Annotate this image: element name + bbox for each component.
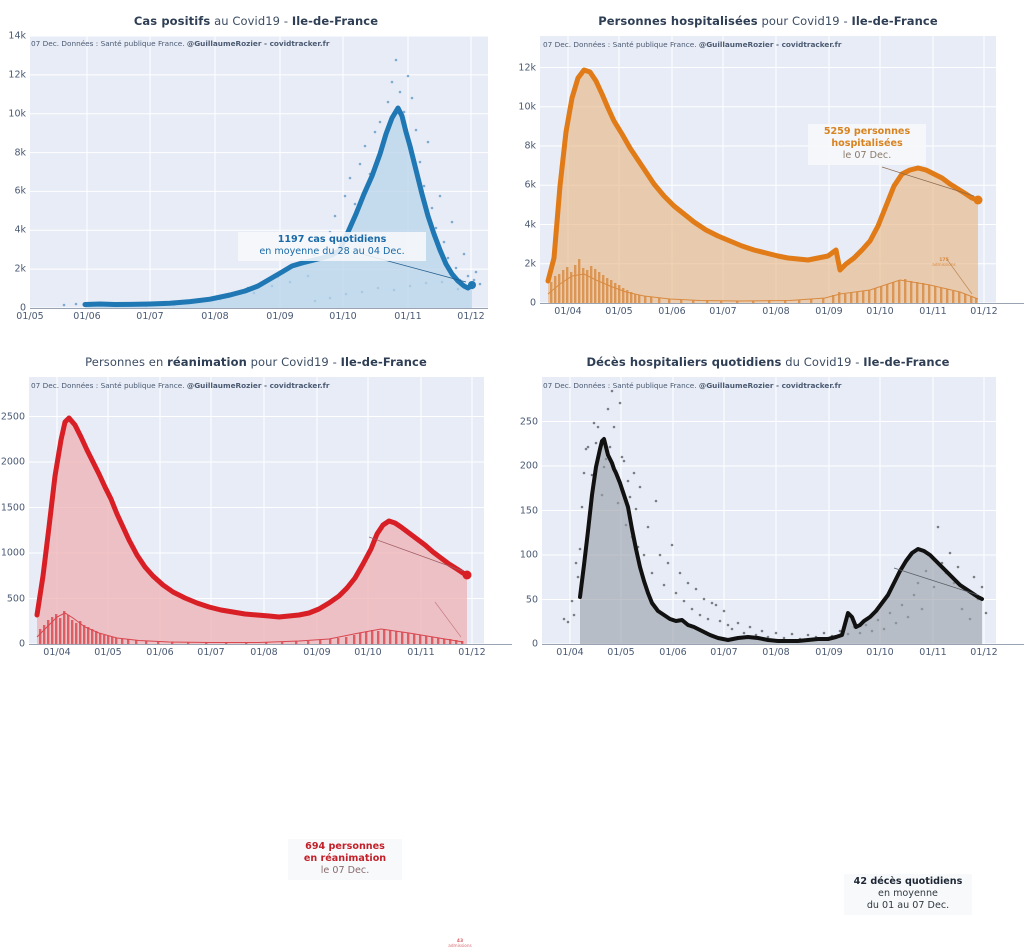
mini-label-admissions-icu: 43 admissions xyxy=(440,939,480,949)
xtick-deaths-2: 01/06 xyxy=(659,647,686,658)
x-axis-line-hospital xyxy=(540,303,1024,304)
annotation-deaths-line1: 42 décès quotidiens xyxy=(849,876,967,888)
xtick-deaths-7: 01/11 xyxy=(919,647,946,658)
x-axis-line-cases xyxy=(30,308,488,309)
chart-title-cases-bold: Cas positifs xyxy=(134,14,210,28)
xtick-icu-6: 01/10 xyxy=(354,647,381,658)
xtick-hospital-0: 01/04 xyxy=(554,306,581,317)
last-point-cases xyxy=(468,281,476,289)
panel-cas-positifs: Cas positifs au Covid19 - Ile-de-France … xyxy=(0,0,512,341)
x-axis-line-deaths xyxy=(542,644,1024,645)
annotation-icu: 694 personnes en réanimation le 07 Dec. xyxy=(288,839,402,880)
source-handle-text: @GuillaumeRozier - covidtracker.fr xyxy=(699,381,842,390)
ytick-deaths-2: 100 xyxy=(512,550,538,561)
dashboard-grid: Cas positifs au Covid19 - Ile-de-France … xyxy=(0,0,1024,683)
panel-deces: Décès hospitaliers quotidiens du Covid19… xyxy=(512,341,1024,683)
annotation-deaths-line3: du 01 au 07 Dec. xyxy=(849,900,967,912)
xtick-icu-0: 01/04 xyxy=(43,647,70,658)
chart-title-hospital-bold: Personnes hospitalisées xyxy=(598,14,758,28)
xtick-hospital-2: 01/06 xyxy=(658,306,685,317)
xtick-icu-8: 01/12 xyxy=(458,647,485,658)
xtick-deaths-0: 01/04 xyxy=(556,647,583,658)
source-note-text: 07 Dec. Données : Santé publique France. xyxy=(543,40,699,49)
xtick-icu-1: 01/05 xyxy=(94,647,121,658)
xtick-deaths-5: 01/09 xyxy=(815,647,842,658)
annotation-hospital: 5259 personnes hospitalisées le 07 Dec. xyxy=(808,124,926,165)
ytick-cases-3: 6k xyxy=(0,186,26,197)
area-hospital xyxy=(548,70,978,303)
xtick-cases-0: 01/05 xyxy=(16,311,43,322)
ytick-cases-2: 4k xyxy=(0,225,26,236)
xtick-deaths-6: 01/10 xyxy=(866,647,893,658)
last-point-icu xyxy=(463,571,472,580)
ytick-hospital-2: 4k xyxy=(512,219,536,230)
chart-title-icu-region: Ile-de-France xyxy=(341,355,427,369)
annotation-hospital-line1: 5259 personnes xyxy=(813,126,921,138)
ytick-deaths-0: 0 xyxy=(512,639,538,650)
xtick-icu-2: 01/06 xyxy=(146,647,173,658)
ytick-hospital-6: 12k xyxy=(512,62,536,73)
xtick-icu-4: 01/08 xyxy=(250,647,277,658)
ytick-hospital-3: 6k xyxy=(512,180,536,191)
annotation-icu-line1: 694 personnes xyxy=(293,841,397,853)
ytick-hospital-4: 8k xyxy=(512,141,536,152)
ytick-cases-6: 12k xyxy=(0,69,26,80)
xtick-cases-3: 01/08 xyxy=(201,311,228,322)
xtick-cases-2: 01/07 xyxy=(136,311,163,322)
chart-title-icu-prefix: Personnes en xyxy=(85,355,167,369)
chart-title-icu-bold: réanimation xyxy=(167,355,247,369)
ytick-icu-5: 2500 xyxy=(0,411,25,422)
xtick-deaths-4: 01/08 xyxy=(762,647,789,658)
source-handle-text: @GuillaumeRozier - covidtracker.fr xyxy=(187,39,330,48)
chart-title-icu: Personnes en réanimation pour Covid19 - … xyxy=(0,355,512,369)
xtick-deaths-8: 01/12 xyxy=(970,647,997,658)
ytick-icu-4: 2000 xyxy=(0,457,25,468)
ytick-icu-1: 500 xyxy=(0,593,25,604)
area-cases xyxy=(85,108,472,308)
annotation-cases-line1: 1197 cas quotidiens xyxy=(243,234,421,246)
source-note-hospital: 07 Dec. Données : Santé publique France.… xyxy=(543,40,841,49)
xtick-icu-5: 01/09 xyxy=(303,647,330,658)
ytick-cases-5: 10k xyxy=(0,108,26,119)
source-note-cases: 07 Dec. Données : Santé publique France.… xyxy=(31,39,329,48)
chart-svg-icu xyxy=(29,377,484,644)
ytick-hospital-0: 0 xyxy=(512,298,536,309)
xtick-hospital-7: 01/11 xyxy=(919,306,946,317)
xtick-hospital-4: 01/08 xyxy=(762,306,789,317)
plot-area-deaths xyxy=(542,377,996,644)
xtick-cases-4: 01/09 xyxy=(266,311,293,322)
chart-title-icu-mid: pour Covid19 - xyxy=(247,355,341,369)
ytick-hospital-1: 2k xyxy=(512,258,536,269)
chart-title-cases-region: Ile-de-France xyxy=(292,14,378,28)
source-note-text: 07 Dec. Données : Santé publique France. xyxy=(31,381,187,390)
xtick-icu-3: 01/07 xyxy=(197,647,224,658)
source-handle-text: @GuillaumeRozier - covidtracker.fr xyxy=(187,381,330,390)
plot-area-cases xyxy=(30,36,488,308)
source-handle-text: @GuillaumeRozier - covidtracker.fr xyxy=(699,40,842,49)
annotation-icu-line2: en réanimation xyxy=(293,853,397,865)
mini-label-text-icu: admissions xyxy=(440,944,480,949)
xtick-cases-6: 01/11 xyxy=(394,311,421,322)
xtick-deaths-3: 01/07 xyxy=(710,647,737,658)
annotation-cases-line2: en moyenne du 28 au 04 Dec. xyxy=(243,246,421,258)
ytick-cases-7: 14k xyxy=(0,31,26,42)
annotation-hospital-line3: le 07 Dec. xyxy=(813,150,921,162)
last-point-hospital xyxy=(974,196,983,205)
annotation-cases: 1197 cas quotidiens en moyenne du 28 au … xyxy=(238,232,426,261)
ytick-icu-3: 1500 xyxy=(0,502,25,513)
ytick-cases-1: 2k xyxy=(0,264,26,275)
xtick-cases-5: 01/10 xyxy=(329,311,356,322)
xtick-hospital-5: 01/09 xyxy=(815,306,842,317)
ytick-deaths-1: 50 xyxy=(512,594,538,605)
plot-area-icu xyxy=(29,377,484,644)
chart-title-deaths-region: Ile-de-France xyxy=(863,355,949,369)
ytick-cases-4: 8k xyxy=(0,147,26,158)
chart-title-hospital: Personnes hospitalisées pour Covid19 - I… xyxy=(512,14,1024,28)
source-note-text: 07 Dec. Données : Santé publique France. xyxy=(543,381,699,390)
xtick-hospital-8: 01/12 xyxy=(970,306,997,317)
ytick-icu-0: 0 xyxy=(0,639,25,650)
annotation-deaths-line2: en moyenne xyxy=(849,888,967,900)
ytick-deaths-5: 250 xyxy=(512,416,538,427)
ytick-icu-2: 1000 xyxy=(0,548,25,559)
ytick-deaths-4: 200 xyxy=(512,461,538,472)
chart-title-hospital-region: Ile-de-France xyxy=(851,14,937,28)
xtick-hospital-6: 01/10 xyxy=(866,306,893,317)
chart-title-cases: Cas positifs au Covid19 - Ile-de-France xyxy=(0,14,512,28)
chart-title-cases-mid: au Covid19 - xyxy=(210,14,292,28)
area-deaths xyxy=(580,439,982,644)
chart-svg-cases xyxy=(30,36,488,308)
xtick-hospital-3: 01/07 xyxy=(709,306,736,317)
source-note-deaths: 07 Dec. Données : Santé publique France.… xyxy=(543,381,841,390)
annotation-hospital-line2: hospitalisées xyxy=(813,138,921,150)
panel-hospitalisations: Personnes hospitalisées pour Covid19 - I… xyxy=(512,0,1024,341)
chart-title-deaths: Décès hospitaliers quotidiens du Covid19… xyxy=(512,355,1024,369)
mini-label-text-hospital: admissions xyxy=(924,263,964,268)
mini-label-admissions-hospital: 175 admissions xyxy=(924,258,964,268)
x-axis-line-icu xyxy=(29,644,512,645)
annotation-icu-line3: le 07 Dec. xyxy=(293,865,397,877)
xtick-cases-1: 01/06 xyxy=(73,311,100,322)
xtick-deaths-1: 01/05 xyxy=(607,647,634,658)
annotation-deaths: 42 décès quotidiens en moyenne du 01 au … xyxy=(844,874,972,915)
ytick-hospital-5: 10k xyxy=(512,101,536,112)
xtick-icu-7: 01/11 xyxy=(407,647,434,658)
source-note-icu: 07 Dec. Données : Santé publique France.… xyxy=(31,381,329,390)
ytick-deaths-3: 150 xyxy=(512,505,538,516)
source-note-text: 07 Dec. Données : Santé publique France. xyxy=(31,39,187,48)
chart-svg-deaths xyxy=(542,377,996,644)
panel-reanimation: Personnes en réanimation pour Covid19 - … xyxy=(0,341,512,683)
chart-title-deaths-mid: du Covid19 - xyxy=(782,355,864,369)
xtick-cases-7: 01/12 xyxy=(457,311,484,322)
chart-title-hospital-mid: pour Covid19 - xyxy=(758,14,852,28)
xtick-hospital-1: 01/05 xyxy=(605,306,632,317)
chart-title-deaths-bold: Décès hospitaliers quotidiens xyxy=(586,355,781,369)
